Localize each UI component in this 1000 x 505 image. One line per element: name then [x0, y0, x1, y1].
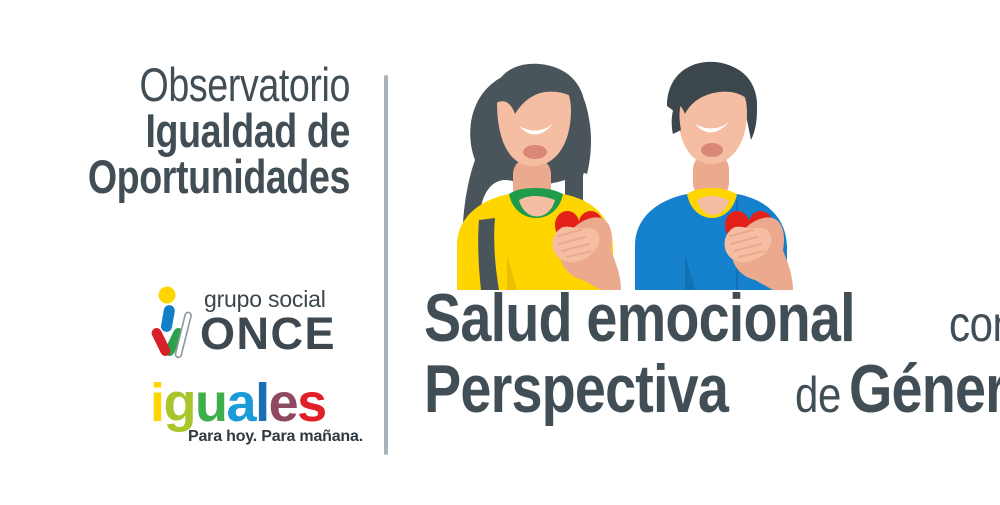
woman-figure — [457, 64, 621, 290]
iguales-tagline: Para hoy. Para mañana. — [188, 428, 363, 446]
headline-line-1: Salud emocionalcon — [424, 286, 1000, 351]
iguales-letter-u-2: u — [195, 373, 227, 433]
man-figure — [635, 62, 793, 290]
iguales-letter-s-6: s — [297, 373, 326, 433]
once-figure-icon — [146, 286, 202, 362]
once-wordmark: ONCE — [200, 308, 336, 360]
headline-salud-emocional: Salud emocional — [424, 286, 855, 351]
grupo-social-once-logo: grupo social ONCE — [146, 284, 351, 364]
iguales-letter-i-0: i — [150, 373, 164, 433]
left-branding-block: Observatorio Igualdad de Oportunidades — [0, 0, 360, 505]
headline-line-2: PerspectivadeGénero — [424, 357, 1000, 422]
once-wordmark-group: grupo social ONCE — [202, 284, 352, 362]
two-people-hearts-illustration — [415, 50, 845, 290]
iguales-letter-g-1: g — [164, 373, 196, 433]
headline-de: de — [795, 372, 841, 420]
observatory-line-3: Oportunidades — [70, 154, 350, 200]
observatory-line-1: Observatorio — [70, 62, 350, 108]
iguales-wordmark: iguales — [150, 376, 326, 430]
headline-con: con — [949, 301, 1000, 349]
observatory-line-2: Igualdad de — [70, 108, 350, 154]
headline: Salud emocionalcon PerspectivadeGénero — [424, 286, 1000, 421]
observatory-title: Observatorio Igualdad de Oportunidades — [0, 62, 350, 200]
iguales-letter-e-5: e — [269, 373, 298, 433]
poster-canvas: Observatorio Igualdad de Oportunidades — [0, 0, 1000, 505]
headline-genero: Género — [849, 357, 1000, 422]
iguales-letter-l-4: l — [255, 373, 269, 433]
headline-perspectiva: Perspectiva — [424, 357, 728, 422]
iguales-letter-a-3: a — [227, 373, 256, 433]
vertical-divider — [384, 75, 388, 455]
iguales-logo: iguales Para hoy. Para mañana. — [150, 376, 350, 456]
